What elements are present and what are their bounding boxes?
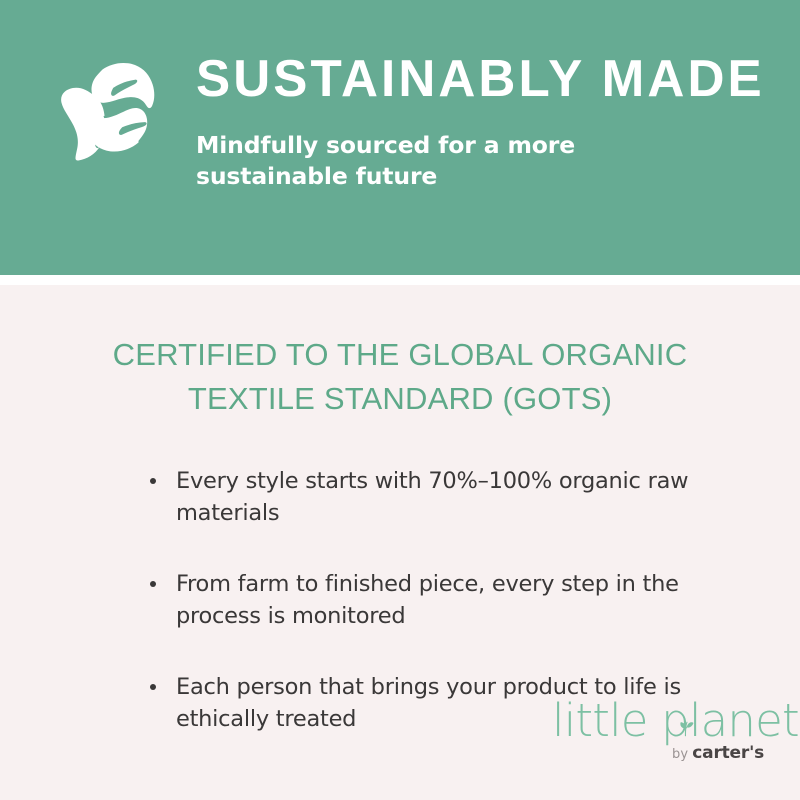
little-planet-logo: little planet® bycarter's <box>552 698 764 772</box>
bullet-dot-icon <box>150 684 156 690</box>
three-leaves-recycle-icon <box>52 52 170 174</box>
header-text-group: SUSTAINABLY MADE Mindfully sourced for a… <box>196 52 776 193</box>
list-item-text: Every style starts with 70%–100% organic… <box>176 468 688 526</box>
certification-heading: CERTIFIED TO THE GLOBAL ORGANIC TEXTILE … <box>0 285 800 421</box>
logo-wordmark-text: little planet <box>552 694 799 747</box>
bullet-dot-icon <box>150 478 156 484</box>
logo-byline-prefix: by <box>672 747 688 762</box>
bullet-dot-icon <box>150 581 156 587</box>
promo-graphic: SUSTAINABLY MADE Mindfully sourced for a… <box>0 0 800 800</box>
certification-bullet-list: Every style starts with 70%–100% organic… <box>0 421 800 735</box>
header-band: SUSTAINABLY MADE Mindfully sourced for a… <box>0 0 800 275</box>
leaf-sprout-icon <box>677 717 694 737</box>
certification-panel: CERTIFIED TO THE GLOBAL ORGANIC TEXTILE … <box>0 285 800 800</box>
page-title: SUSTAINABLY MADE <box>196 52 767 106</box>
list-item: From farm to finished piece, every step … <box>0 568 800 633</box>
logo-wordmark: little planet® <box>552 698 764 743</box>
list-item: Every style starts with 70%–100% organic… <box>0 465 800 530</box>
list-item-text: From farm to finished piece, every step … <box>176 571 679 629</box>
header-subtitle: Mindfully sourced for a more sustainable… <box>196 130 626 193</box>
logo-byline: bycarter's <box>552 745 764 762</box>
